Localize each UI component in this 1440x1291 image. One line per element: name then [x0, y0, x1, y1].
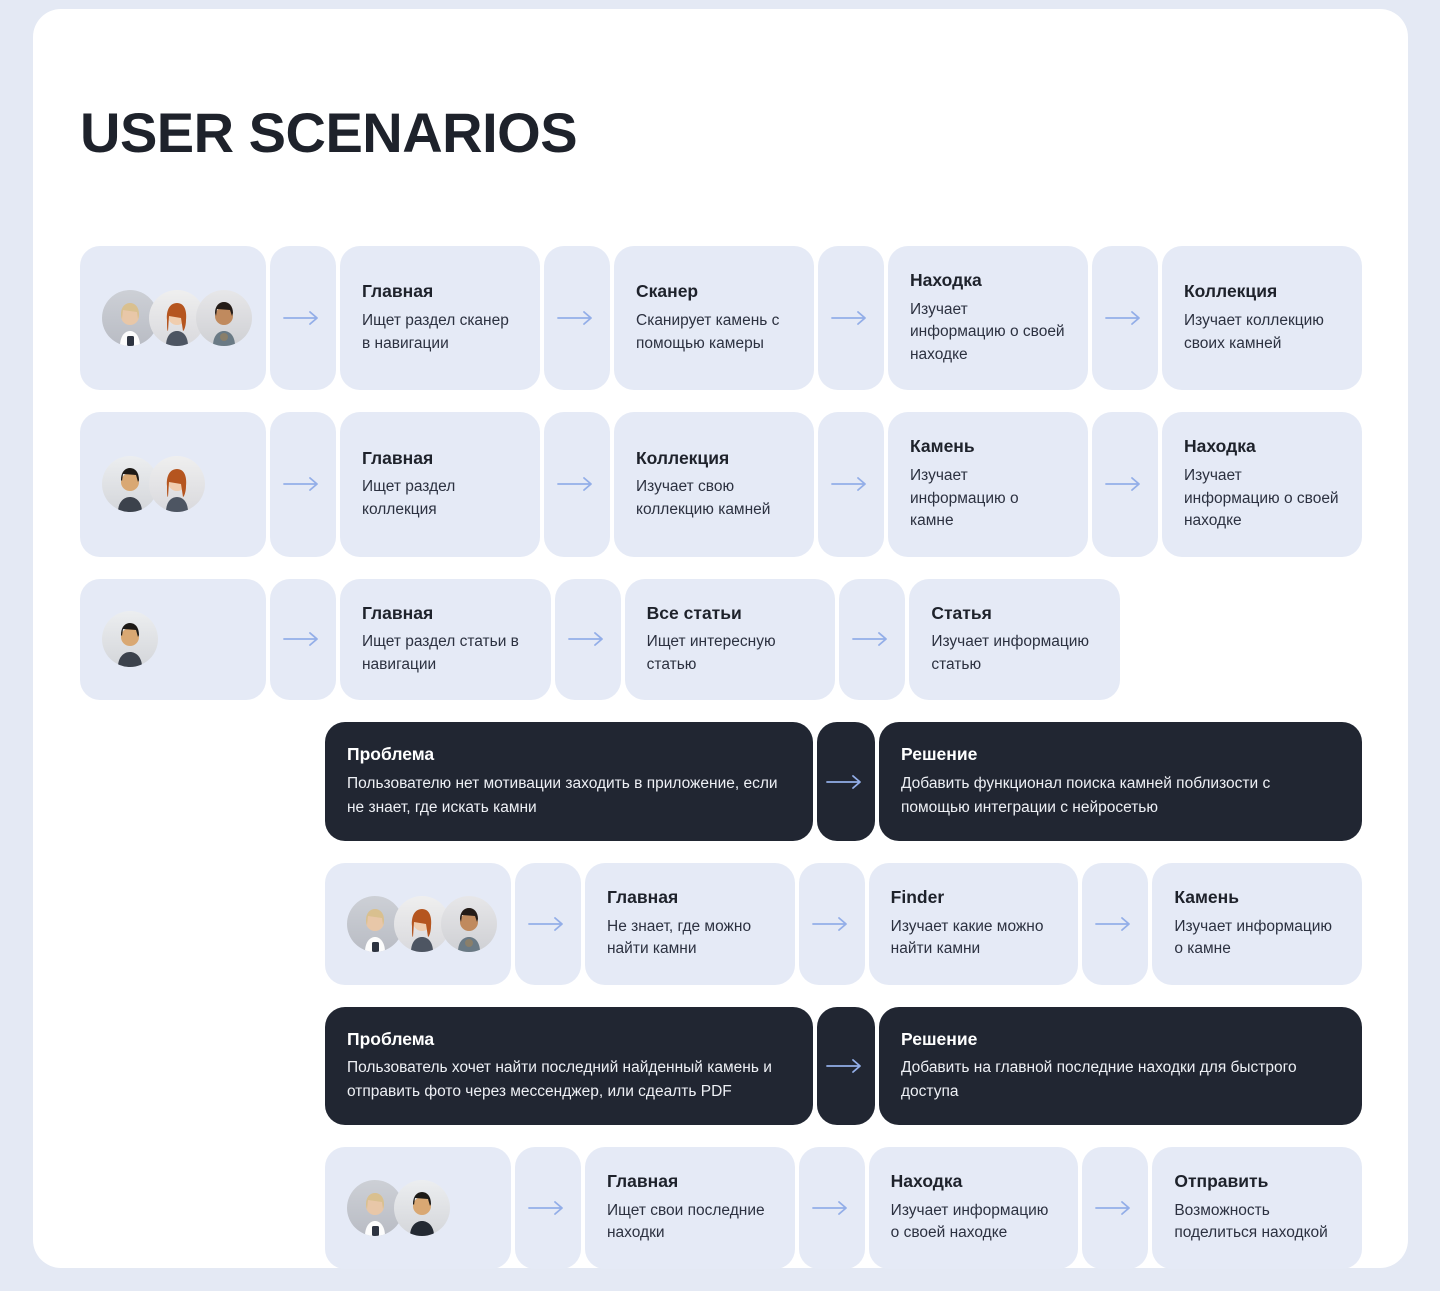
flow-step[interactable]: Сканер Сканирует камень с помощью камеры [614, 246, 814, 390]
solution-title: Решение [901, 744, 1340, 766]
step-description: Не знает, где можно найти камни [607, 916, 773, 961]
problem-card[interactable]: Проблема Пользователю нет мотивации захо… [325, 722, 813, 840]
problem-description: Пользователь хочет найти последний найде… [347, 1056, 791, 1103]
step-description: Изучает информацию о своей находке [891, 1200, 1057, 1245]
arrow-right-icon [270, 579, 336, 701]
arrow-right-icon [515, 863, 581, 985]
avatar-group [80, 246, 266, 390]
solution-description: Добавить функционал поиска камней поблиз… [901, 772, 1340, 819]
flow-step[interactable]: Камень Изучает информацию о камне [1152, 863, 1362, 985]
problem-solution-band: Проблема Пользователь хочет найти послед… [325, 1007, 1362, 1125]
flow-step[interactable]: Находка Изучает информацию о своей наход… [869, 1147, 1079, 1269]
step-title: Отправить [1174, 1171, 1340, 1193]
arrow-right-icon [817, 722, 875, 840]
solution-title: Решение [901, 1029, 1340, 1051]
flow-row-articles: Главная Ищет раздел статьи в навигации В… [80, 579, 1120, 701]
arrow-right-icon [270, 412, 336, 556]
step-title: Главная [607, 1171, 773, 1193]
avatar-stack [102, 611, 158, 667]
step-title: Статья [931, 603, 1098, 625]
avatar-photo-icon [149, 456, 205, 512]
solution-card[interactable]: Решение Добавить на главной последние на… [879, 1007, 1362, 1125]
arrow-right-icon [818, 246, 884, 390]
step-title: Коллекция [636, 448, 792, 470]
scenarios-panel: USER SCENARIOS [33, 9, 1408, 1268]
arrow-right-icon [1092, 246, 1158, 390]
arrow-right-icon [799, 1147, 865, 1269]
step-description: Изучает какие можно найти камни [891, 916, 1057, 961]
flow-row-collection: Главная Ищет раздел коллекция Коллекция … [80, 412, 1362, 556]
step-description: Ищет интересную статью [647, 631, 814, 676]
step-description: Изучает информацию о своей находке [1184, 465, 1340, 532]
problem-description: Пользователю нет мотивации заходить в пр… [347, 772, 791, 819]
arrow-right-icon [799, 863, 865, 985]
avatar-group [80, 579, 266, 701]
problem-title: Проблема [347, 1029, 791, 1051]
step-description: Изучает информацию о камне [1174, 916, 1340, 961]
flow-step[interactable]: Камень Изучает информацию о камне [888, 412, 1088, 556]
avatar-photo-icon [102, 611, 158, 667]
arrow-right-icon [515, 1147, 581, 1269]
avatar-stack [347, 1180, 450, 1236]
step-title: Находка [891, 1171, 1057, 1193]
problem-title: Проблема [347, 744, 791, 766]
avatar-group [325, 863, 511, 985]
step-title: Главная [362, 281, 518, 303]
flows-container: Главная Ищет раздел сканер в навигации С… [80, 246, 1362, 1291]
flow-step[interactable]: Находка Изучает информацию о своей наход… [1162, 412, 1362, 556]
step-description: Сканирует камень с помощью камеры [636, 310, 792, 355]
flow-step[interactable]: Все статьи Ищет интересную статью [625, 579, 836, 701]
flow-row-finder: Главная Не знает, где можно найти камни … [325, 863, 1362, 985]
step-description: Ищет свои последние находки [607, 1200, 773, 1245]
avatar-stack [102, 290, 252, 346]
arrow-right-icon [544, 412, 610, 556]
flow-step[interactable]: Коллекция Изучает коллекцию своих камней [1162, 246, 1362, 390]
avatar-photo-icon [196, 290, 252, 346]
flow-row-share: Главная Ищет свои последние находки Нахо… [325, 1147, 1362, 1269]
arrow-right-icon [817, 1007, 875, 1125]
avatar-stack [347, 896, 497, 952]
arrow-right-icon [1092, 412, 1158, 556]
flow-step[interactable]: Finder Изучает какие можно найти камни [869, 863, 1079, 985]
flow-step[interactable]: Главная Ищет раздел сканер в навигации [340, 246, 540, 390]
arrow-right-icon [839, 579, 905, 701]
step-title: Коллекция [1184, 281, 1340, 303]
step-title: Сканер [636, 281, 792, 303]
step-description: Изучает коллекцию своих камней [1184, 310, 1340, 355]
step-title: Главная [607, 887, 773, 909]
avatar-photo-icon [441, 896, 497, 952]
step-description: Возможность поделиться находкой [1174, 1200, 1340, 1245]
arrow-right-icon [544, 246, 610, 390]
solution-card[interactable]: Решение Добавить функционал поиска камне… [879, 722, 1362, 840]
step-title: Камень [1174, 887, 1340, 909]
flow-step[interactable]: Главная Ищет раздел коллекция [340, 412, 540, 556]
flow-step[interactable]: Главная Ищет раздел статьи в навигации [340, 579, 551, 701]
step-description: Изучает информацию о камне [910, 465, 1066, 532]
avatar-group [325, 1147, 511, 1269]
flow-step[interactable]: Главная Ищет свои последние находки [585, 1147, 795, 1269]
flow-step[interactable]: Главная Не знает, где можно найти камни [585, 863, 795, 985]
step-description: Ищет раздел статьи в навигации [362, 631, 529, 676]
step-description: Ищет раздел сканер в навигации [362, 310, 518, 355]
flow-step[interactable]: Отправить Возможность поделиться находко… [1152, 1147, 1362, 1269]
step-description: Изучает информацию статью [931, 631, 1098, 676]
step-description: Ищет раздел коллекция [362, 476, 518, 521]
arrow-right-icon [555, 579, 621, 701]
step-description: Изучает информацию о своей находке [910, 299, 1066, 366]
avatar-photo-icon [394, 1180, 450, 1236]
step-title: Камень [910, 436, 1066, 458]
step-title: Главная [362, 603, 529, 625]
step-title: Главная [362, 448, 518, 470]
avatar-stack [102, 456, 205, 512]
avatar-group [80, 412, 266, 556]
flow-step[interactable]: Находка Изучает информацию о своей наход… [888, 246, 1088, 390]
arrow-right-icon [1082, 1147, 1148, 1269]
problem-solution-band: Проблема Пользователю нет мотивации захо… [325, 722, 1362, 840]
flow-step[interactable]: Статья Изучает информацию статью [909, 579, 1120, 701]
step-description: Изучает свою коллекцию камней [636, 476, 792, 521]
flow-step[interactable]: Коллекция Изучает свою коллекцию камней [614, 412, 814, 556]
arrow-right-icon [818, 412, 884, 556]
problem-card[interactable]: Проблема Пользователь хочет найти послед… [325, 1007, 813, 1125]
page-title: USER SCENARIOS [80, 100, 577, 165]
arrow-right-icon [270, 246, 336, 390]
step-title: Finder [891, 887, 1057, 909]
flow-row-scanner: Главная Ищет раздел сканер в навигации С… [80, 246, 1362, 390]
arrow-right-icon [1082, 863, 1148, 985]
step-title: Находка [1184, 436, 1340, 458]
step-title: Находка [910, 270, 1066, 292]
solution-description: Добавить на главной последние находки дл… [901, 1056, 1340, 1103]
step-title: Все статьи [647, 603, 814, 625]
